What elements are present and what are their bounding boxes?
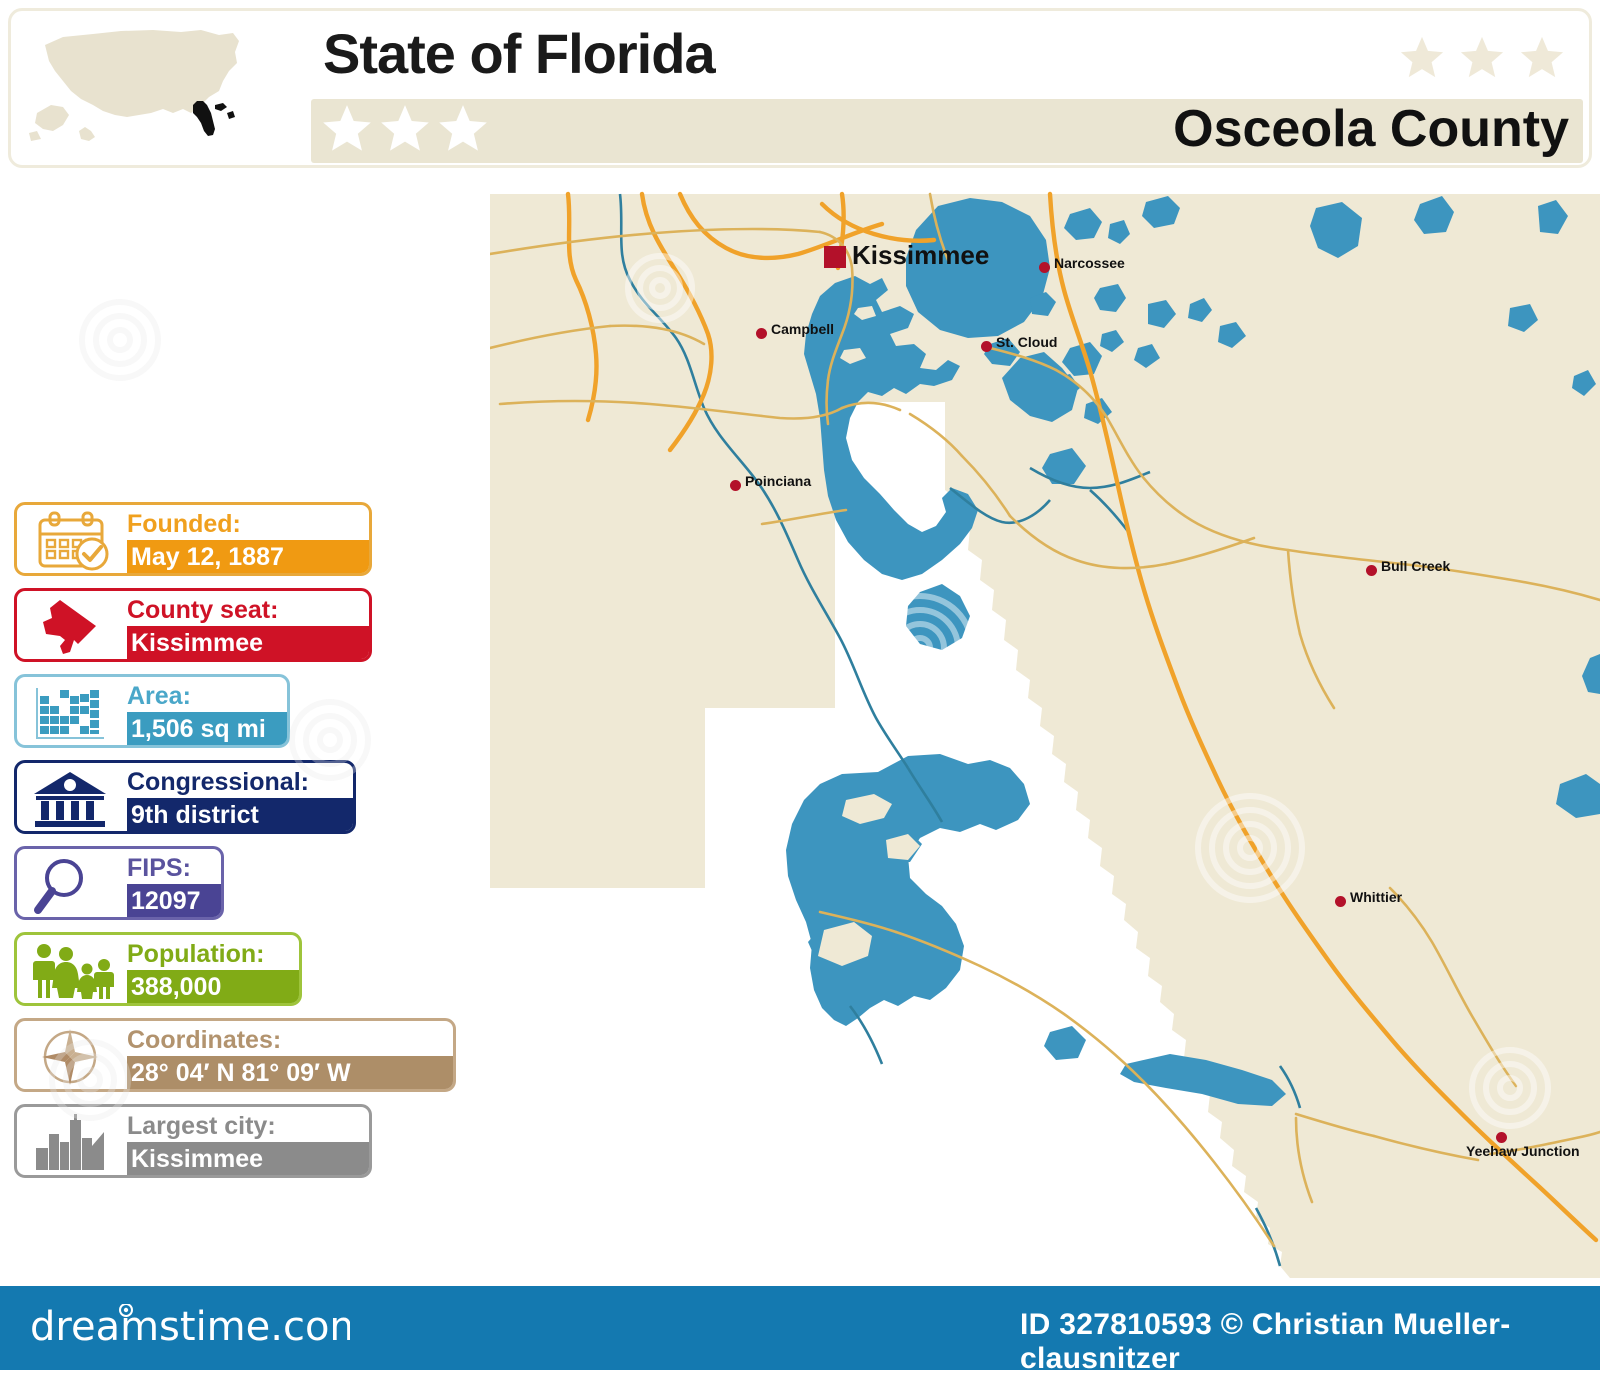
grid-chart-icon [25, 681, 121, 745]
calendar-check-icon [25, 509, 121, 573]
star-icon [1399, 35, 1445, 81]
family-group-icon [25, 939, 121, 1003]
city-marker-st-cloud[interactable] [981, 341, 992, 352]
info-label-congressional: Congressional: [127, 766, 309, 798]
city-marker-campbell[interactable] [756, 328, 767, 339]
city-marker-yeehaw-junction[interactable] [1496, 1132, 1507, 1143]
compass-rose-icon [25, 1025, 121, 1089]
footer-bar: dreamstime.com ID 327810593 © Christian … [0, 1286, 1600, 1370]
stars-top-right [1399, 35, 1565, 81]
city-label-st-cloud: St. Cloud [996, 334, 1057, 350]
magnifier-icon [25, 853, 121, 917]
info-value-founded: May 12, 1887 [131, 542, 284, 572]
info-box-population[interactable]: Population: 388,000 [14, 932, 302, 1006]
header-panel: State of Florida Osceola County [8, 8, 1592, 168]
image-credit: ID 327810593 © Christian Mueller-clausni… [1020, 1308, 1600, 1376]
city-label-yeehaw-junction: Yeehaw Junction [1466, 1143, 1580, 1159]
svg-text:dreamstime.com: dreamstime.com [30, 1304, 350, 1350]
city-marker-poinciana[interactable] [730, 480, 741, 491]
city-marker-whittier[interactable] [1335, 896, 1346, 907]
us-map-icon [23, 21, 301, 155]
city-label-campbell: Campbell [771, 321, 834, 337]
city-label-kissimmee: Kissimmee [852, 240, 989, 271]
info-value-fips: 12097 [131, 886, 201, 916]
info-value-strip-congressional: 9th district [127, 798, 356, 831]
state-title-strip: State of Florida [311, 17, 1583, 95]
info-value-strip-fips: 12097 [127, 884, 224, 917]
info-value-strip-largest-city: Kissimmee [127, 1142, 372, 1175]
county-title-band: Osceola County [311, 99, 1583, 163]
info-box-county-seat[interactable]: County seat: Kissimmee [14, 588, 372, 662]
info-label-county-seat: County seat: [127, 594, 278, 626]
star-icon [1459, 35, 1505, 81]
info-value-strip-county-seat: Kissimmee [127, 626, 372, 659]
star-icon [379, 103, 425, 149]
capitol-building-icon [25, 767, 121, 831]
info-label-population: Population: [127, 938, 264, 970]
star-icon [321, 103, 367, 149]
info-value-strip-coordinates: 28° 04′ N 81° 09′ W [127, 1056, 456, 1089]
star-icon [437, 103, 483, 149]
info-box-founded[interactable]: Founded: May 12, 1887 [14, 502, 372, 576]
info-box-largest-city[interactable]: Largest city: Kissimmee [14, 1104, 372, 1178]
page-title: State of Florida [323, 21, 715, 87]
city-skyline-icon [25, 1111, 121, 1175]
info-label-largest-city: Largest city: [127, 1110, 276, 1142]
map-city-markers: Kissimmee Narcossee Campbell St. Cloud P… [490, 188, 1600, 1278]
info-value-largest-city: Kissimmee [131, 1144, 263, 1174]
stars-band [321, 103, 483, 149]
info-value-area: 1,506 sq mi [131, 714, 266, 744]
county-title: Osceola County [1173, 95, 1569, 163]
info-label-fips: FIPS: [127, 852, 191, 884]
info-value-congressional: 9th district [131, 800, 259, 830]
info-label-area: Area: [127, 680, 191, 712]
city-label-poinciana: Poinciana [745, 473, 811, 489]
county-map[interactable]: Kissimmee Narcossee Campbell St. Cloud P… [490, 188, 1600, 1278]
info-box-fips[interactable]: FIPS: 12097 [14, 846, 224, 920]
info-label-founded: Founded: [127, 508, 241, 540]
city-label-whittier: Whittier [1350, 889, 1402, 905]
city-label-narcossee: Narcossee [1054, 255, 1125, 271]
info-value-strip-population: 388,000 [127, 970, 302, 1003]
district-shape-icon [25, 595, 121, 659]
info-box-congressional[interactable]: Congressional: 9th district [14, 760, 356, 834]
info-box-coordinates[interactable]: Coordinates: 28° 04′ N 81° 09′ W [14, 1018, 456, 1092]
info-value-strip-area: 1,506 sq mi [127, 712, 290, 745]
county-seat-marker[interactable] [824, 246, 846, 268]
info-value-coordinates: 28° 04′ N 81° 09′ W [131, 1058, 351, 1088]
info-label-coordinates: Coordinates: [127, 1024, 281, 1056]
info-box-list: Founded: May 12, 1887 County seat: Kissi… [14, 502, 434, 1190]
city-label-bull-creek: Bull Creek [1381, 558, 1450, 574]
info-value-county-seat: Kissimmee [131, 628, 263, 658]
info-value-strip-founded: May 12, 1887 [127, 540, 372, 573]
info-box-area[interactable]: Area: 1,506 sq mi [14, 674, 290, 748]
info-value-population: 388,000 [131, 972, 221, 1002]
city-marker-narcossee[interactable] [1039, 262, 1050, 273]
star-icon [1519, 35, 1565, 81]
city-marker-bull-creek[interactable] [1366, 565, 1377, 576]
dreamstime-logo[interactable]: dreamstime.com [30, 1304, 350, 1350]
